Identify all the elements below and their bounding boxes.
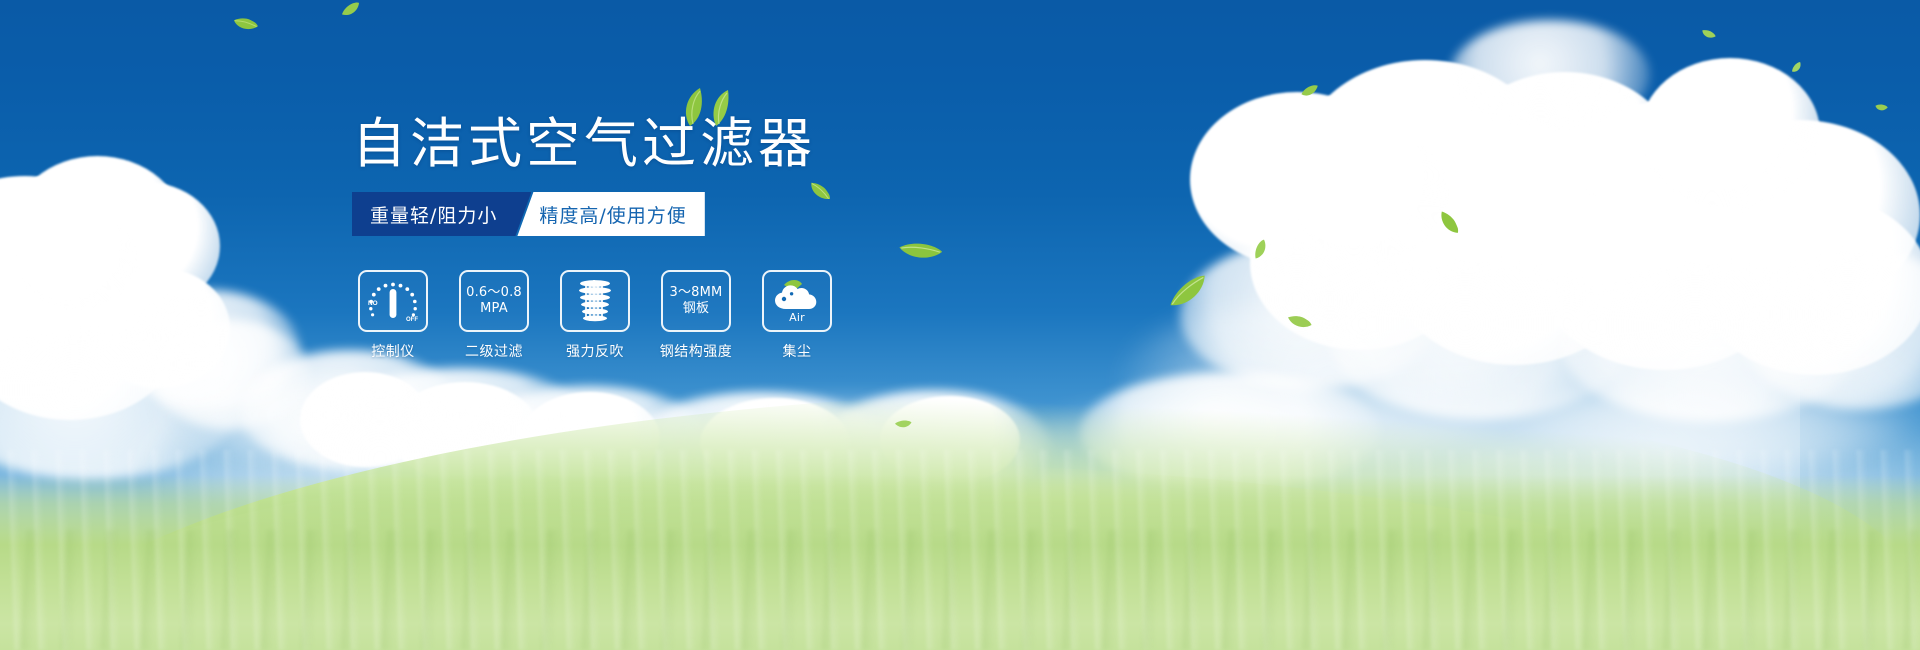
page-title: 自洁式空气过滤器 [352, 113, 816, 175]
feature-label: 强力反吹 [566, 341, 624, 361]
gauge-icon: NO OFF [364, 276, 422, 326]
feature-label: 二级过滤 [465, 341, 523, 361]
feature-label: 钢结构强度 [660, 341, 733, 361]
feature-label: 控制仪 [371, 341, 415, 361]
steel-plate-text: 3～8MM 钢板 [670, 285, 723, 317]
banner-stage: 自洁式空气过滤器 重量轻/阻力小 精度高/使用方便 [0, 0, 1920, 650]
feature-icon-box: Air [762, 270, 832, 332]
svg-text:NO: NO [368, 300, 378, 307]
feature-icon-row: NO OFF 控制仪 0.6～0.8 MPA 二级过滤 [358, 270, 832, 361]
tagline-badge-primary: 重量轻/阻力小 [352, 192, 531, 236]
banner-content: 自洁式空气过滤器 重量轻/阻力小 精度高/使用方便 [0, 0, 1920, 650]
tagline-badges: 重量轻/阻力小 精度高/使用方便 [352, 192, 705, 236]
feature-label: 集尘 [783, 341, 812, 361]
feature-icon-box [560, 270, 630, 332]
feature-item-controller[interactable]: NO OFF 控制仪 [358, 270, 428, 361]
blowback-icon [571, 278, 619, 324]
feature-icon-box: 3～8MM 钢板 [661, 270, 731, 332]
feature-icon-box: NO OFF [358, 270, 428, 332]
feature-item-dust[interactable]: Air 集尘 [762, 270, 832, 361]
feature-icon-box: 0.6～0.8 MPA [459, 270, 529, 332]
svg-text:OFF: OFF [406, 317, 418, 323]
pressure-text: 0.6～0.8 MPA [466, 285, 522, 317]
feature-item-pressure[interactable]: 0.6～0.8 MPA 二级过滤 [459, 270, 529, 361]
feature-item-blowback[interactable]: 强力反吹 [560, 270, 630, 361]
tagline-badge-secondary: 精度高/使用方便 [517, 192, 704, 236]
feature-item-steel[interactable]: 3～8MM 钢板 钢结构强度 [661, 270, 731, 361]
air-label: Air [789, 312, 805, 324]
cloud-air-icon [772, 279, 822, 313]
